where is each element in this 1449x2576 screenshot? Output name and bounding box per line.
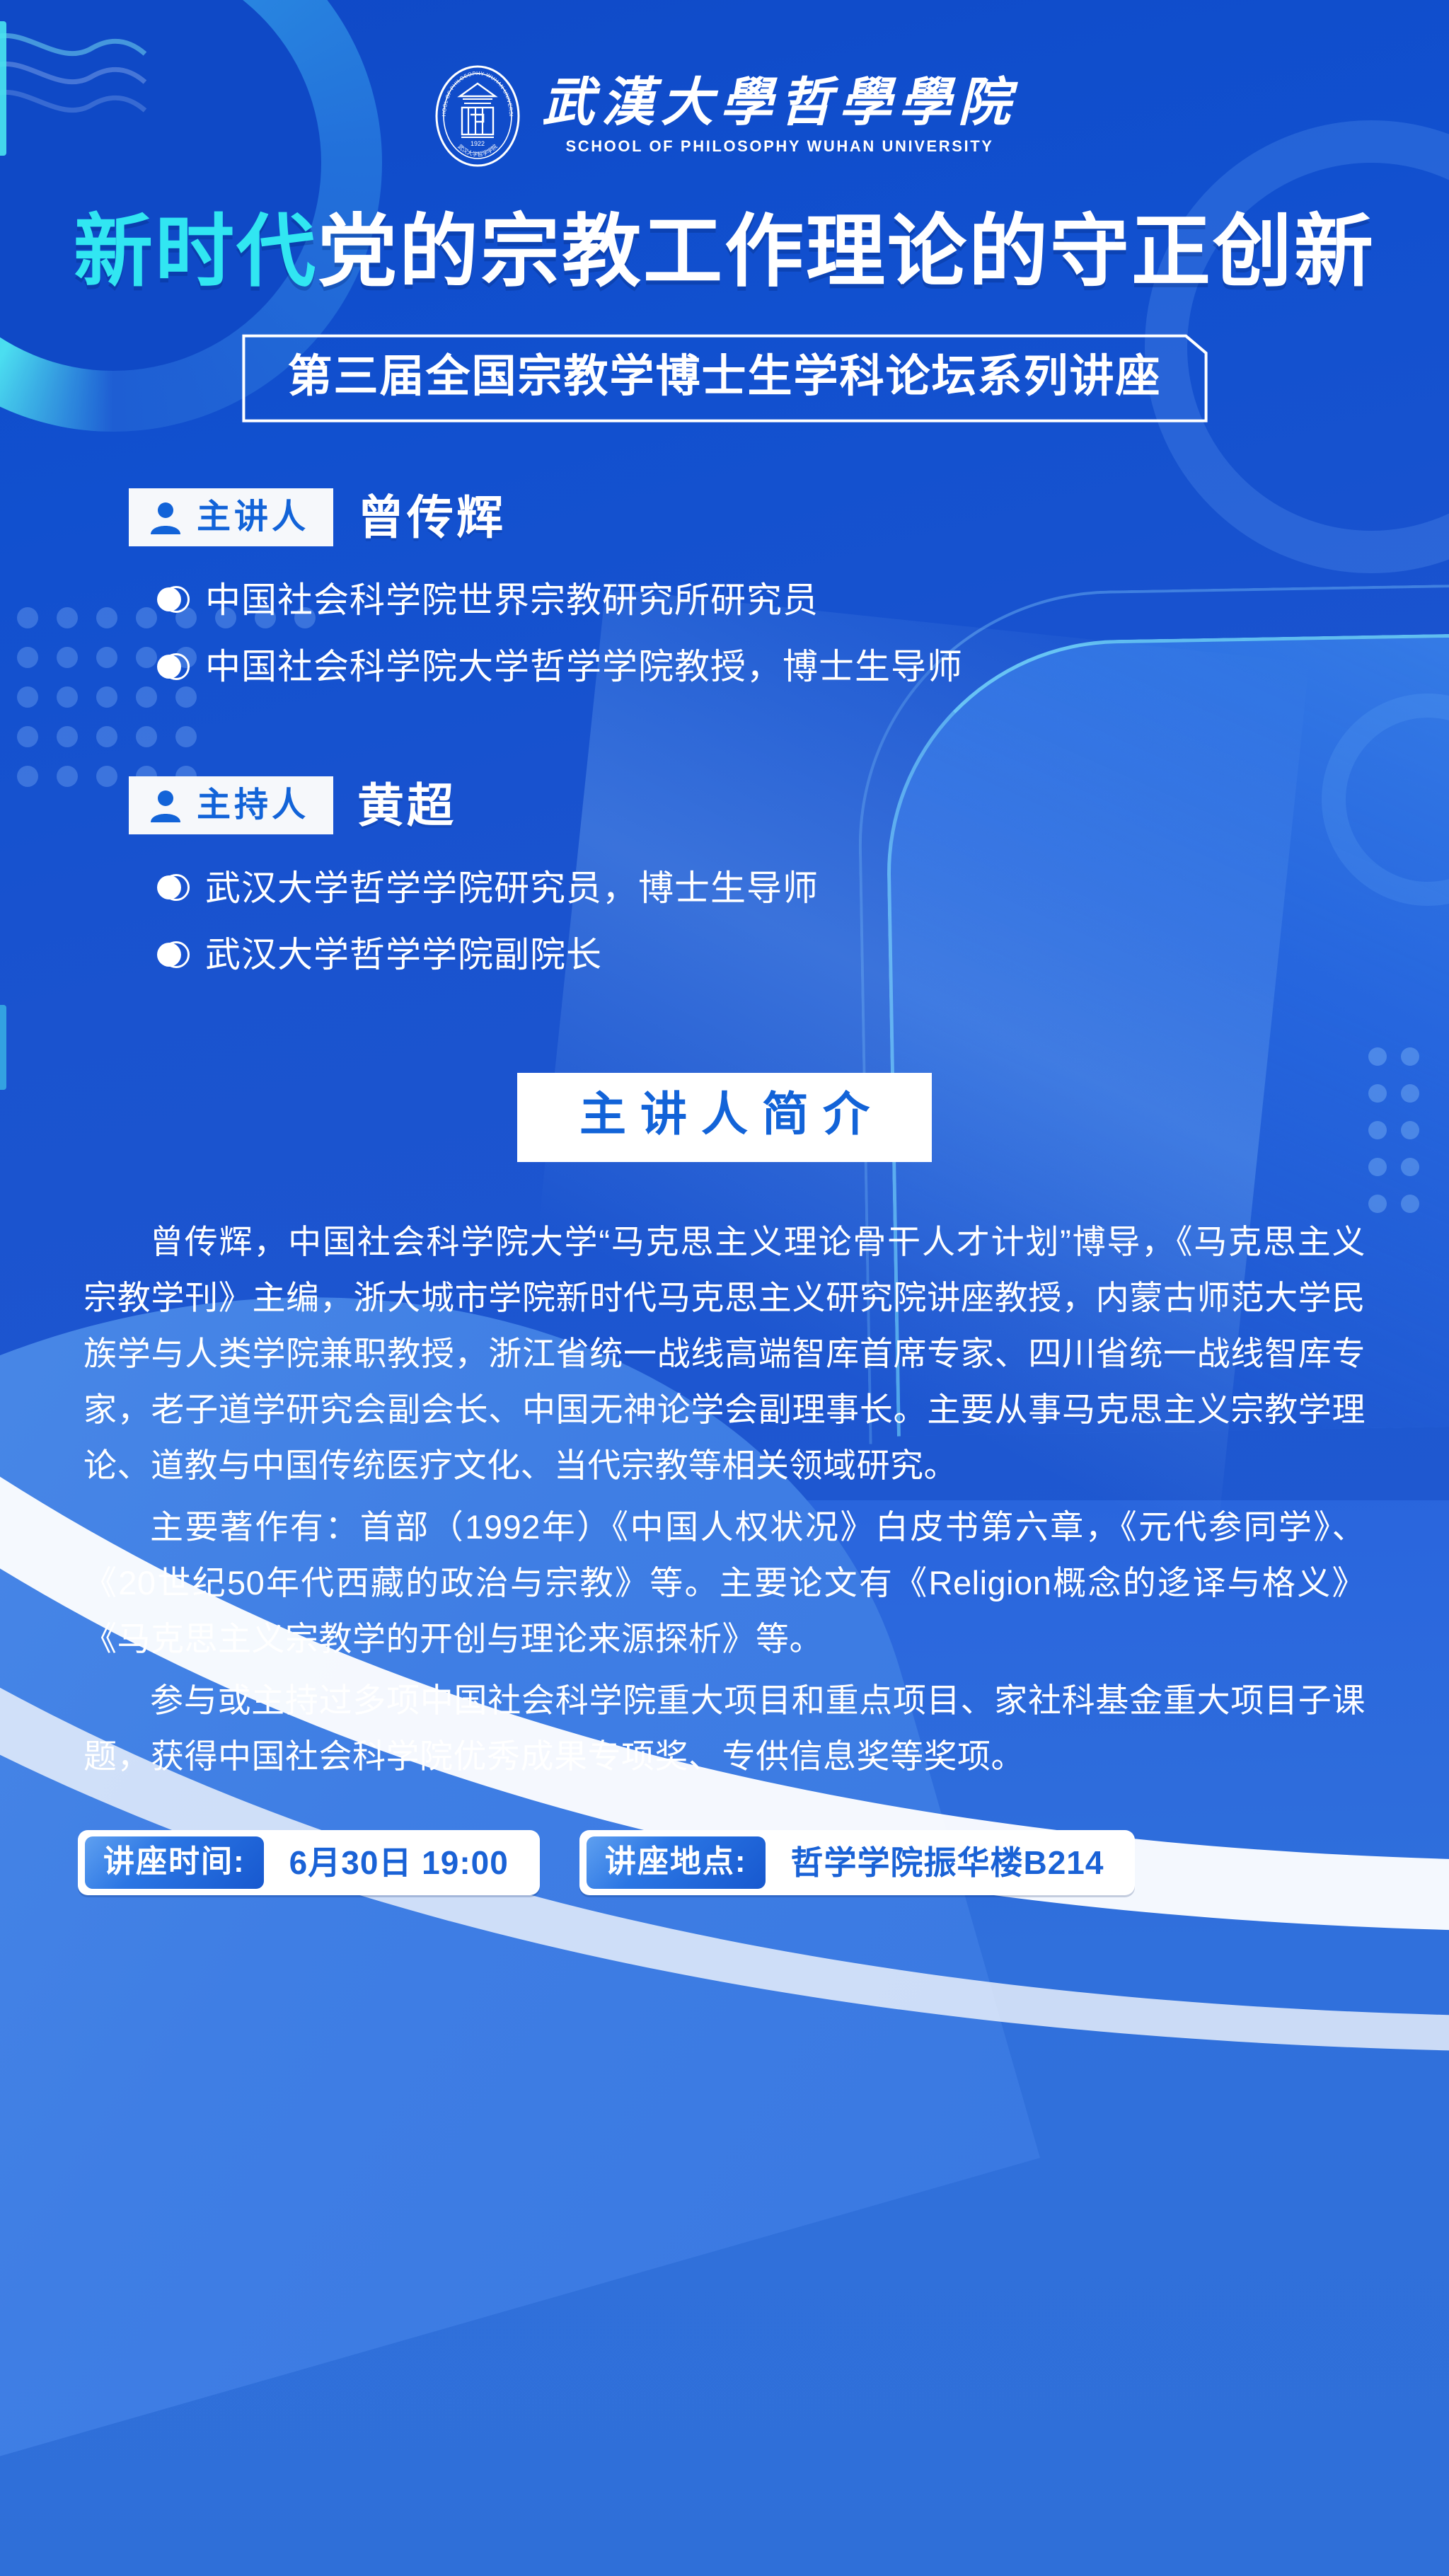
lecture-place-label: 讲座地点: — [587, 1836, 766, 1889]
lecture-place-pill: 讲座地点: 哲学学院振华楼B214 — [579, 1830, 1136, 1895]
host-block: 主持人 黄超 武汉大学哲学学院研究员，博士生导师 武汉大学哲学学院副院长 — [0, 776, 1449, 981]
credential-text: 武汉大学哲学学院副院长 — [205, 929, 602, 981]
eclipse-bullet-icon — [157, 873, 187, 903]
bio-body: 曾传辉，中国社会科学院大学“马克思主义理论骨干人才计划”博导，《马克思主义宗教学… — [0, 1214, 1449, 1785]
credential-text: 中国社会科学院世界宗教研究所研究员 — [205, 575, 819, 626]
speaker-credentials-list: 中国社会科学院世界宗教研究所研究员 中国社会科学院大学哲学学院教授，博士生导师 — [129, 575, 1449, 693]
eclipse-bullet-icon — [157, 941, 187, 970]
host-name: 黄超 — [357, 782, 456, 829]
lecture-time-value: 6月30日 19:00 — [264, 1846, 533, 1879]
list-item: 中国社会科学院大学哲学学院教授，博士生导师 — [157, 641, 1449, 693]
logo-name-en: SCHOOL OF PHILOSOPHY WUHAN UNIVERSITY — [565, 137, 993, 156]
bio-paragraph: 主要著作有：首部（1992年）《中国人权状况》白皮书第六章，《元代参同学》、《2… — [83, 1500, 1366, 1667]
logo-text: 武漢大學哲學學院 SCHOOL OF PHILOSOPHY WUHAN UNIV… — [542, 77, 1017, 156]
person-icon — [147, 499, 184, 536]
host-role-label: 主持人 — [197, 788, 309, 822]
svg-text:1922: 1922 — [471, 140, 485, 147]
speaker-head: 主讲人 曾传辉 — [129, 488, 1449, 546]
list-item: 中国社会科学院世界宗教研究所研究员 — [157, 575, 1449, 626]
logo-name-cn: 武漢大學哲學學院 — [542, 77, 1017, 130]
list-item: 武汉大学哲学学院研究员，博士生导师 — [157, 863, 1449, 914]
poster-content: 1922 SCHOOL OF PHILOSOPHY WUHAN UNIVERSI… — [0, 0, 1449, 1895]
person-icon — [147, 787, 184, 824]
title-highlight: 新时代 — [74, 207, 318, 296]
logo-row: 1922 SCHOOL OF PHILOSOPHY WUHAN UNIVERSI… — [0, 0, 1449, 170]
host-head: 主持人 黄超 — [129, 776, 1449, 834]
bio-section-header: 主讲人简介 — [517, 1073, 932, 1163]
host-role-badge: 主持人 — [129, 776, 333, 834]
subtitle-wrap: 第三届全国宗教学博士生学科论坛系列讲座 — [0, 334, 1449, 422]
list-item: 武汉大学哲学学院副院长 — [157, 929, 1449, 981]
lecture-time-pill: 讲座时间: 6月30日 19:00 — [78, 1830, 540, 1895]
wuhan-university-philosophy-seal-icon: 1922 SCHOOL OF PHILOSOPHY WUHAN UNIVERSI… — [432, 62, 524, 170]
speaker-role-badge: 主讲人 — [129, 488, 333, 546]
footer-info-bar: 讲座时间: 6月30日 19:00 讲座地点: 哲学学院振华楼B214 — [0, 1830, 1449, 1895]
eclipse-bullet-icon — [157, 652, 187, 682]
speaker-name: 曾传辉 — [357, 494, 506, 541]
eclipse-bullet-icon — [157, 585, 187, 615]
lecture-poster: 1922 SCHOOL OF PHILOSOPHY WUHAN UNIVERSI… — [0, 0, 1449, 2576]
subtitle-box: 第三届全国宗教学博士生学科论坛系列讲座 — [241, 334, 1208, 422]
title-rest: 党的宗教工作理论的守正创新 — [318, 207, 1375, 296]
bio-section-header-wrap: 主讲人简介 — [0, 1073, 1449, 1163]
bio-paragraph: 曾传辉，中国社会科学院大学“马克思主义理论骨干人才计划”博导，《马克思主义宗教学… — [83, 1214, 1366, 1494]
host-credentials-list: 武汉大学哲学学院研究员，博士生导师 武汉大学哲学学院副院长 — [129, 863, 1449, 981]
speaker-role-label: 主讲人 — [197, 500, 309, 534]
subtitle-text: 第三届全国宗教学博士生学科论坛系列讲座 — [288, 352, 1162, 401]
bio-paragraph: 参与或主持过多项中国社会科学院重大项目和重点项目、家社科基金重大项目子课题，获得… — [83, 1673, 1366, 1785]
lecture-time-label: 讲座时间: — [85, 1836, 264, 1889]
credential-text: 中国社会科学院大学哲学学院教授，博士生导师 — [205, 641, 963, 693]
page-title: 新时代党的宗教工作理论的守正创新 — [0, 211, 1449, 293]
credential-text: 武汉大学哲学学院研究员，博士生导师 — [205, 863, 819, 914]
lecture-place-value: 哲学学院振华楼B214 — [766, 1846, 1128, 1879]
speaker-block: 主讲人 曾传辉 中国社会科学院世界宗教研究所研究员 中国社会科学院大学哲学学院教… — [0, 488, 1449, 693]
